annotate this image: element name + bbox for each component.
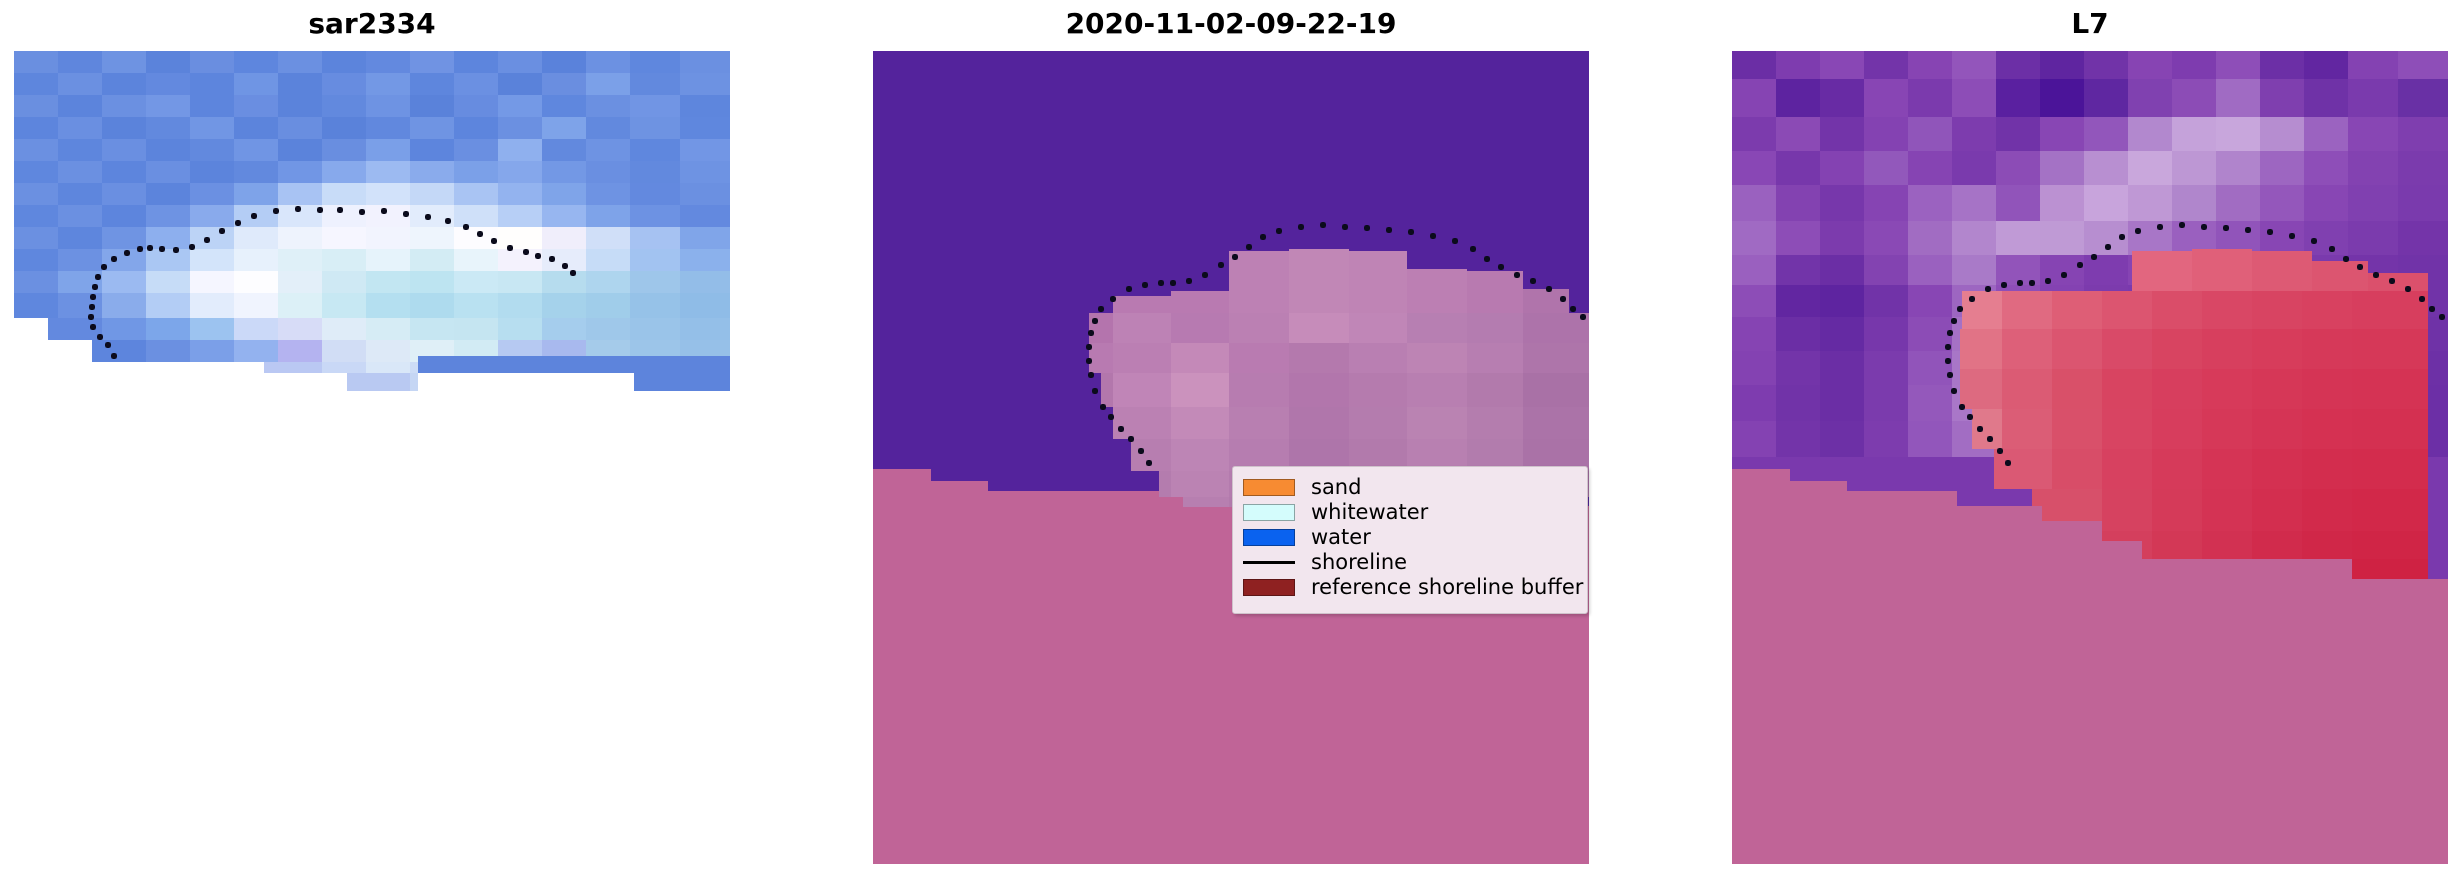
whitewater-swatch xyxy=(1243,504,1295,521)
legend-item-water: water xyxy=(1243,525,1577,550)
water-swatch xyxy=(1243,529,1295,546)
sand-swatch xyxy=(1243,479,1295,496)
panel-classification-title: 2020-11-02-09-22-19 xyxy=(873,4,1589,44)
legend-item-shoreline: shoreline xyxy=(1243,550,1577,575)
legend-item-whitewater: whitewater xyxy=(1243,500,1577,525)
panel-l7-axes xyxy=(1732,51,2448,864)
legend-item-sand: sand xyxy=(1243,475,1577,500)
sar-raster-image xyxy=(14,51,730,401)
l7-raster-image xyxy=(1732,51,2448,864)
shoreline-line-swatch xyxy=(1243,554,1295,571)
panel-l7: L7 xyxy=(1732,0,2448,881)
legend-label-reference-shoreline-buffer: reference shoreline buffer xyxy=(1311,577,1583,598)
legend-label-whitewater: whitewater xyxy=(1311,502,1428,523)
panel-l7-title: L7 xyxy=(1732,4,2448,44)
panel-classification-axes xyxy=(873,51,1589,864)
legend-label-water: water xyxy=(1311,527,1371,548)
legend-item-reference-shoreline-buffer: reference shoreline buffer xyxy=(1243,575,1577,600)
reference-shoreline-buffer-swatch xyxy=(1243,579,1295,596)
legend-label-sand: sand xyxy=(1311,477,1361,498)
classification-raster-image xyxy=(873,51,1589,864)
panel-classification: 2020-11-02-09-22-19 xyxy=(873,0,1589,881)
figure-canvas: sar2334 xyxy=(0,0,2460,881)
map-legend: sand whitewater water shoreline referenc… xyxy=(1232,466,1588,614)
panel-sar-axes xyxy=(14,51,730,401)
panel-sar-title: sar2334 xyxy=(14,4,730,44)
legend-label-shoreline: shoreline xyxy=(1311,552,1407,573)
panel-sar: sar2334 xyxy=(14,0,730,881)
